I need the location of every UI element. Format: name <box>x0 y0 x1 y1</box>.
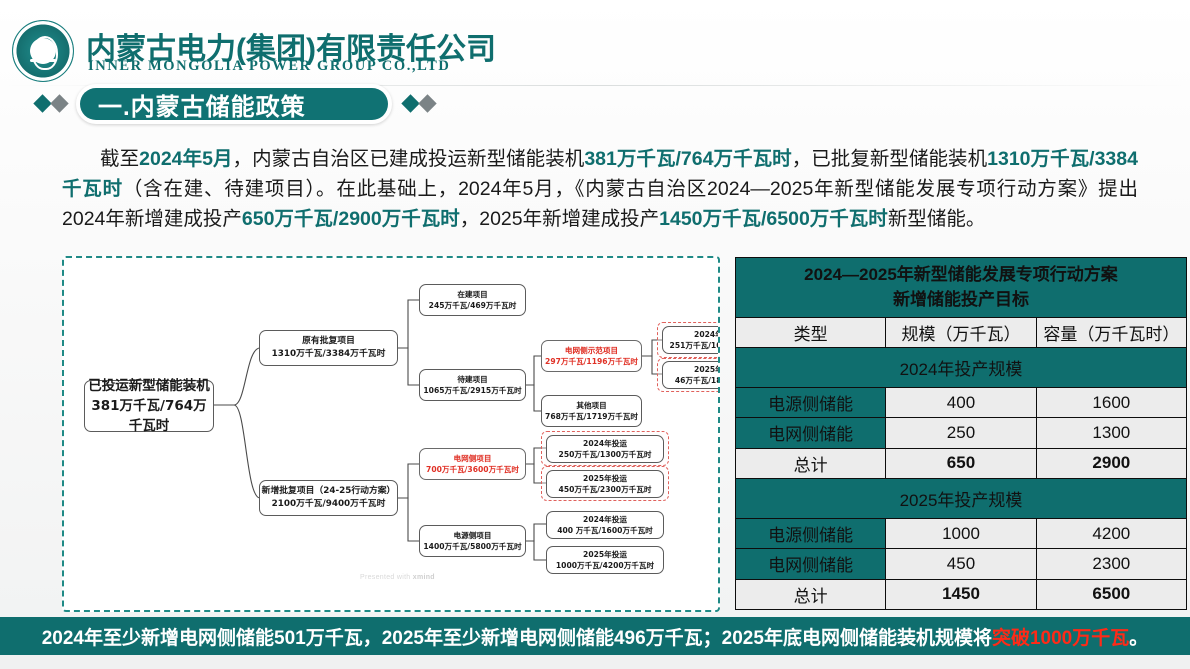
table-row: 总计6502900 <box>736 448 1187 478</box>
node-line2: 1065万千瓦/2915万千瓦时 <box>423 385 521 396</box>
table-title-cell: 2024—2025年新型储能发展专项行动方案新增储能投产目标 <box>736 258 1187 318</box>
diagram-node-root: 已投运新型储能装机 381万千瓦/764万千瓦时 <box>84 380 214 432</box>
diagram-node-existing-approved: 原有批复项目 1310万千瓦/3384万千瓦时 <box>259 330 398 366</box>
table-cell-capacity-1-2: 6500 <box>1036 579 1186 609</box>
watermark-brand: xmind <box>413 574 435 581</box>
table-cell-capacity-0-1: 1300 <box>1036 418 1186 448</box>
node-line2: 251万千瓦/1012万千瓦时 <box>670 340 720 351</box>
table-cell-capacity-0-2: 2900 <box>1036 448 1186 478</box>
banner-part1: 2024年至少新增电网侧储能501万千瓦，2025年至少新增电网侧储能496万千… <box>42 628 992 649</box>
node-line2: 768万千瓦/1719万千瓦时 <box>545 411 638 422</box>
diagram-node-grid-2024: 2024年投运 250万千瓦/1300万千瓦时 <box>546 435 664 463</box>
table-cell-scale-1-0: 1000 <box>886 518 1036 548</box>
node-line1: 其他项目 <box>576 400 606 411</box>
node-line2: 297万千瓦/1196万千瓦时 <box>545 356 638 367</box>
watermark-prefix: Presented with <box>360 574 413 581</box>
node-line2: 1310万千瓦/3384万千瓦时 <box>272 348 386 361</box>
table-title-line2: 新增储能投产目标 <box>736 287 1186 312</box>
node-line1: 2025年投运 <box>694 364 720 375</box>
node-line1: 在建项目 <box>457 289 487 300</box>
node-line1: 原有批复项目 <box>302 335 355 348</box>
node-line2: 1400万千瓦/5800万千瓦时 <box>423 541 521 552</box>
diagram-node-grid-side-project: 电网侧项目 700万千瓦/3600万千瓦时 <box>419 448 526 480</box>
policy-paragraph: 截至2024年5月，内蒙古自治区已建成投运新型储能装机381万千瓦/764万千瓦… <box>62 144 1138 234</box>
table-subheader-row: 2024年投产规模 <box>736 347 1187 387</box>
diagram-node-pending-construction: 待建项目 1065万千瓦/2915万千瓦时 <box>419 369 526 401</box>
table-column-header-1: 规模（万千瓦） <box>886 317 1036 347</box>
banner-text: 2024年至少新增电网侧储能501万千瓦，2025年至少新增电网侧储能496万千… <box>42 623 1149 650</box>
node-line1: 2025年投运 <box>583 549 627 560</box>
table-column-header-2: 容量（万千瓦时） <box>1036 317 1186 347</box>
diamond-icon <box>33 94 51 112</box>
table-cell-scale-0-2: 650 <box>886 448 1036 478</box>
diagram-node-new-approved: 新增批复项目（24-25行动方案） 2100万千瓦/9400万千瓦时 <box>259 480 398 516</box>
diagram-node-other-projects: 其他项目 768万千瓦/1719万千瓦时 <box>541 395 642 427</box>
diamond-icon <box>401 94 419 112</box>
diamond-icon <box>418 94 436 112</box>
node-line2: 450万千瓦/2300万千瓦时 <box>559 484 652 495</box>
node-line1: 待建项目 <box>457 374 487 385</box>
diagram-node-demo-2024: 2024年投运 251万千瓦/1012万千瓦时 <box>662 326 720 354</box>
table-row-label-1-0: 电源侧储能 <box>736 518 886 548</box>
node-line1: 2024年投运 <box>694 329 720 340</box>
storage-breakdown-diagram: 已投运新型储能装机 381万千瓦/764万千瓦时 原有批复项目 1310万千瓦/… <box>62 256 720 612</box>
node-line1: 新增批复项目（24-25行动方案） <box>262 485 396 498</box>
paragraph-segment-7: 650万千瓦/2900万千瓦时 <box>242 208 460 230</box>
table-row: 电网侧储能2501300 <box>736 418 1187 448</box>
table-cell-scale-1-2: 1450 <box>886 579 1036 609</box>
node-line1: 2025年投运 <box>583 473 627 484</box>
table-row: 电网侧储能4502300 <box>736 549 1187 579</box>
storage-goal-table: 2024—2025年新型储能发展专项行动方案新增储能投产目标类型规模（万千瓦）容… <box>735 257 1187 610</box>
node-line2: 245万千瓦/469万千瓦时 <box>429 300 517 311</box>
table-title-row: 2024—2025年新型储能发展专项行动方案新增储能投产目标 <box>736 258 1187 318</box>
banner-part2: 。 <box>1129 628 1148 649</box>
node-line1: 2024年投运 <box>583 514 627 525</box>
table-cell-capacity-1-1: 2300 <box>1036 549 1186 579</box>
table-row-label-1-2: 总计 <box>736 579 886 609</box>
table-row: 电源侧储能10004200 <box>736 518 1187 548</box>
company-seal-logo-icon <box>12 20 74 82</box>
decorative-diamonds-right <box>404 97 434 110</box>
diagram-node-grid-2025: 2025年投运 450万千瓦/2300万千瓦时 <box>546 470 664 498</box>
paragraph-segment-3: 381万千瓦/764万千瓦时 <box>584 148 791 170</box>
table-subheader-1: 2025年投产规模 <box>736 478 1187 518</box>
paragraph-segment-10: 新型储能。 <box>888 208 986 230</box>
paragraph-segment-4: ，已批复新型储能装机 <box>792 148 987 170</box>
table-row-label-0-2: 总计 <box>736 448 886 478</box>
table-row: 电源侧储能4001600 <box>736 387 1187 417</box>
diagram-node-under-construction: 在建项目 245万千瓦/469万千瓦时 <box>419 284 526 316</box>
xmind-watermark: Presented with xmind <box>360 574 435 581</box>
table-cell-scale-0-1: 250 <box>886 418 1036 448</box>
node-line1: 电源侧项目 <box>454 530 492 541</box>
paragraph-segment-0: 截至 <box>100 148 139 170</box>
table-subheader-0: 2024年投产规模 <box>736 347 1187 387</box>
table-cell-scale-1-1: 450 <box>886 549 1036 579</box>
node-line2: 400 万千瓦/1600万千瓦时 <box>557 525 653 536</box>
paragraph-segment-2: ，内蒙古自治区已建成投运新型储能装机 <box>233 148 585 170</box>
footer-strip <box>0 655 1190 669</box>
section-title-text: 一.内蒙古储能政策 <box>98 87 306 122</box>
node-line1: 电网侧项目 <box>454 453 492 464</box>
node-line1: 电网侧示范项目 <box>565 345 618 356</box>
node-line2: 250万千瓦/1300万千瓦时 <box>559 449 652 460</box>
section-title-pill: 一.内蒙古储能政策 <box>80 88 388 120</box>
page-header: 内蒙古电力(集团)有限责任公司 INNER MONGOLIA POWER GRO… <box>0 0 1190 86</box>
table-cell-capacity-0-0: 1600 <box>1036 387 1186 417</box>
node-line2: 2100万千瓦/9400万千瓦时 <box>272 498 386 511</box>
storage-goal-table-wrapper: 2024—2025年新型储能发展专项行动方案新增储能投产目标类型规模（万千瓦）容… <box>735 257 1187 610</box>
table-title-line1: 2024—2025年新型储能发展专项行动方案 <box>736 262 1186 287</box>
table-row-label-0-0: 电源侧储能 <box>736 387 886 417</box>
paragraph-segment-8: ，2025年新增建成投产 <box>460 208 659 230</box>
company-name-english: INNER MONGOLIA POWER GROUP CO.,LTD <box>88 58 450 75</box>
node-line1: 2024年投运 <box>583 438 627 449</box>
node-line2: 1000万千瓦/4200万千瓦时 <box>556 560 654 571</box>
diagram-node-demo-2025: 2025年投运 46万千瓦/184万千瓦时 <box>662 361 720 389</box>
table-subheader-row: 2025年投产规模 <box>736 478 1187 518</box>
bottom-conclusion-banner: 2024年至少新增电网侧储能501万千瓦，2025年至少新增电网侧储能496万千… <box>0 617 1190 655</box>
table-column-header-0: 类型 <box>736 317 886 347</box>
table-row-label-1-1: 电网侧储能 <box>736 549 886 579</box>
diagram-node-source-2025: 2025年投运 1000万千瓦/4200万千瓦时 <box>546 546 664 574</box>
diagram-node-source-side-project: 电源侧项目 1400万千瓦/5800万千瓦时 <box>419 525 526 557</box>
table-row: 总计14506500 <box>736 579 1187 609</box>
node-line2: 46万千瓦/184万千瓦时 <box>675 375 720 386</box>
table-cell-capacity-1-0: 4200 <box>1036 518 1186 548</box>
diamond-icon <box>50 94 68 112</box>
decorative-diamonds-left <box>36 97 66 110</box>
section-title-shell: 一.内蒙古储能政策 <box>76 84 392 124</box>
node-line2: 381万千瓦/764万千瓦时 <box>85 396 213 436</box>
node-line2: 700万千瓦/3600万千瓦时 <box>426 464 519 475</box>
paragraph-segment-9: 1450万千瓦/6500万千瓦时 <box>659 208 888 230</box>
diagram-node-source-2024: 2024年投运 400 万千瓦/1600万千瓦时 <box>546 511 664 539</box>
table-row-label-0-1: 电网侧储能 <box>736 418 886 448</box>
table-header-row: 类型规模（万千瓦）容量（万千瓦时） <box>736 317 1187 347</box>
node-line1: 已投运新型储能装机 <box>88 376 210 396</box>
diagram-node-grid-demo-project: 电网侧示范项目 297万千瓦/1196万千瓦时 <box>541 340 642 372</box>
banner-highlight: 突破1000万千瓦 <box>992 628 1129 649</box>
table-cell-scale-0-0: 400 <box>886 387 1036 417</box>
paragraph-segment-1: 2024年5月 <box>139 148 232 170</box>
